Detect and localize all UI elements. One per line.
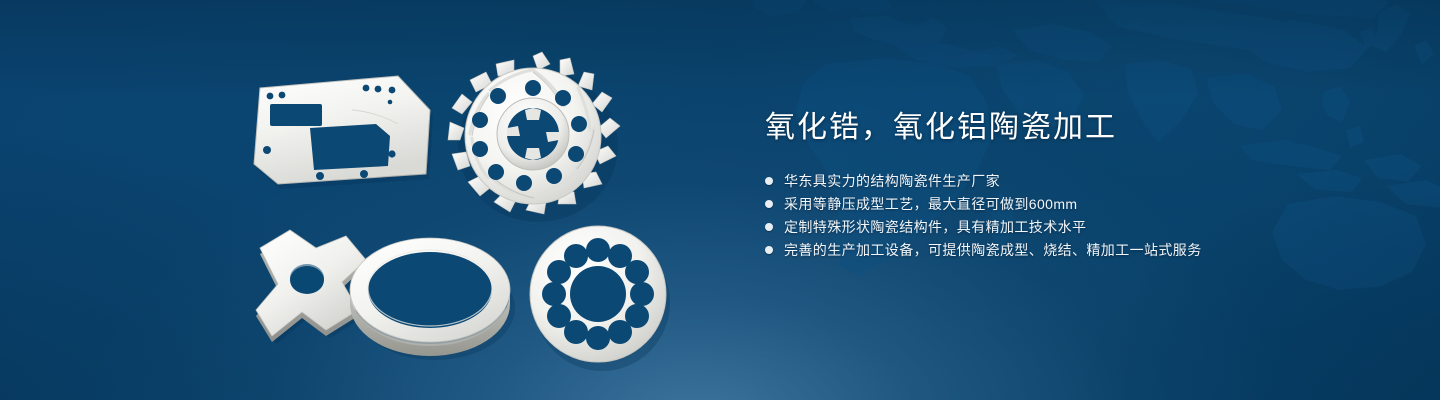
feature-bullet-4: 完善的生产加工设备，可提供陶瓷成型、烧结、精加工一站式服务 (765, 239, 1405, 261)
feature-bullet-list: 华东具实力的结构陶瓷件生产厂家 采用等静压成型工艺，最大直径可做到600mm 定… (765, 170, 1405, 261)
banner-copy: 氧化锆，氧化铝陶瓷加工 华东具实力的结构陶瓷件生产厂家 采用等静压成型工艺，最大… (765, 108, 1405, 261)
ceramic-ring-image (340, 230, 520, 360)
ceramic-processing-banner: 氧化锆，氧化铝陶瓷加工 华东具实力的结构陶瓷件生产厂家 采用等静压成型工艺，最大… (0, 0, 1440, 400)
ceramic-impeller-image (438, 44, 628, 224)
feature-bullet-3-text: 定制特殊形状陶瓷结构件，具有精加工技术水平 (784, 216, 1086, 238)
ceramic-disc-image (520, 222, 680, 372)
product-photo-cluster (0, 0, 740, 400)
feature-bullet-1: 华东具实力的结构陶瓷件生产厂家 (765, 170, 1405, 192)
feature-bullet-4-text: 完善的生产加工设备，可提供陶瓷成型、烧结、精加工一站式服务 (784, 239, 1202, 261)
feature-bullet-2: 采用等静压成型工艺，最大直径可做到600mm (765, 193, 1405, 215)
feature-bullet-1-text: 华东具实力的结构陶瓷件生产厂家 (784, 170, 1000, 192)
bullet-dot-icon (765, 177, 773, 185)
banner-heading: 氧化锆，氧化铝陶瓷加工 (765, 108, 1405, 148)
bullet-dot-icon (765, 246, 773, 254)
bullet-dot-icon (765, 223, 773, 231)
feature-bullet-2-text: 采用等静压成型工艺，最大直径可做到600mm (784, 193, 1077, 215)
ceramic-plate-image (248, 66, 433, 186)
bullet-dot-icon (765, 200, 773, 208)
feature-bullet-3: 定制特殊形状陶瓷结构件，具有精加工技术水平 (765, 216, 1405, 238)
